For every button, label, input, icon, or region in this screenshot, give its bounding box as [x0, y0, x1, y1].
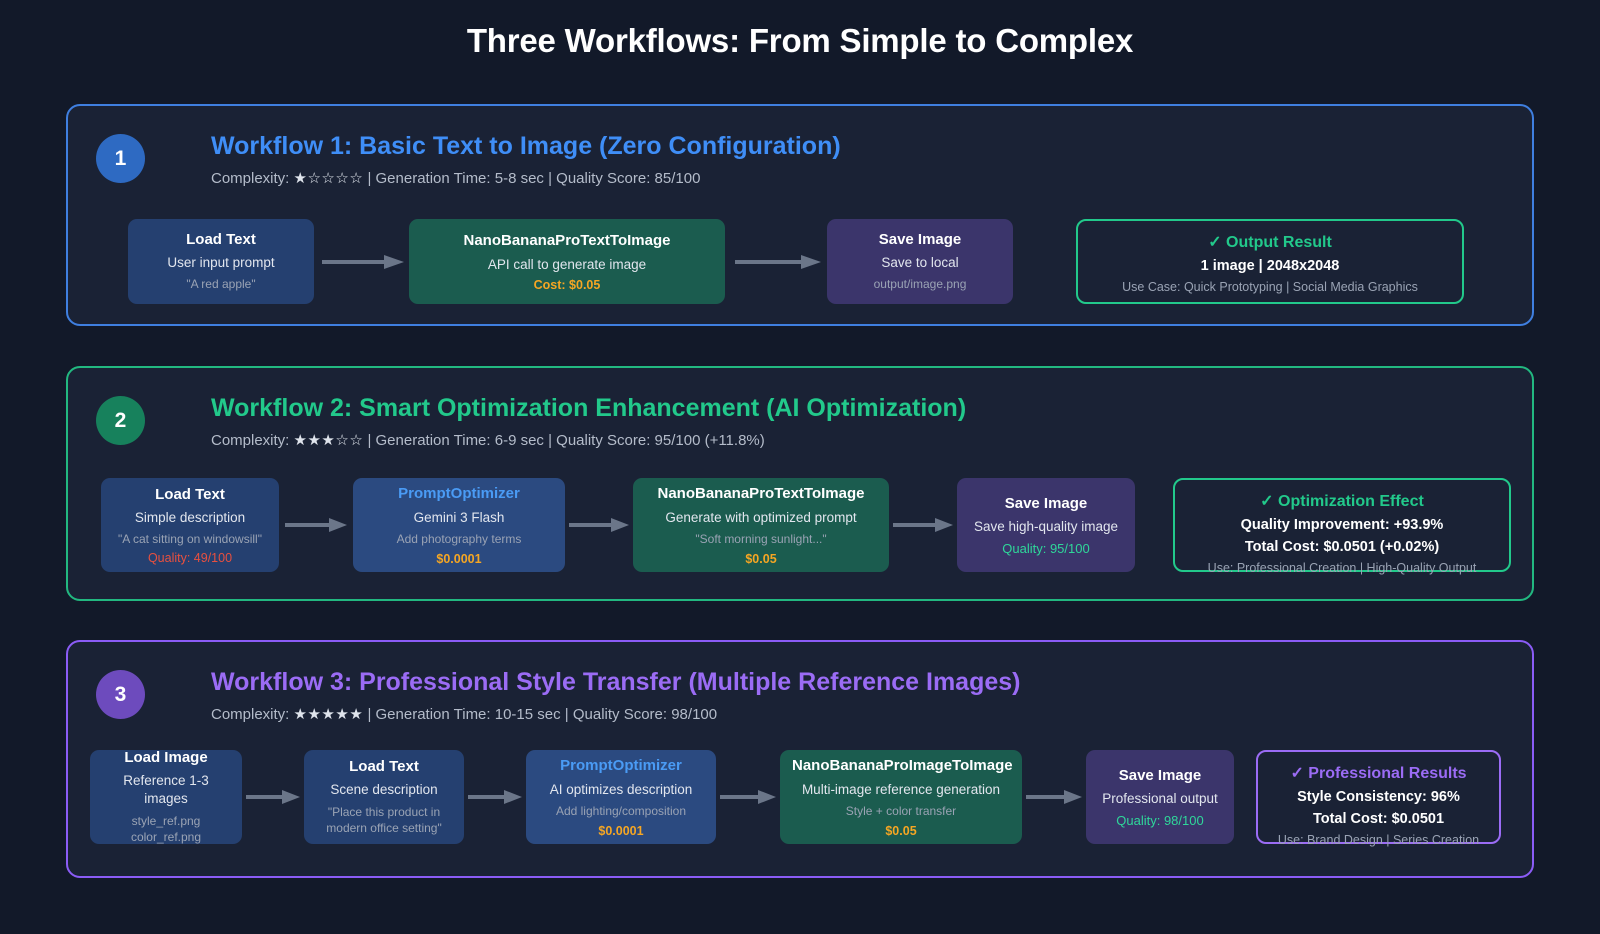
- workflow-header-3: Workflow 3: Professional Style Transfer …: [211, 668, 1021, 723]
- result-title: ✓ Optimization Effect: [1191, 491, 1493, 511]
- node-quality: Quality: 98/100: [1098, 813, 1222, 828]
- node-subtitle: Save high-quality image: [969, 518, 1123, 536]
- workflow-title-2: Workflow 2: Smart Optimization Enhanceme…: [211, 394, 966, 423]
- node-detail: "A cat sitting on windowsill": [113, 531, 267, 548]
- result-line: Quality Improvement: +93.9%: [1191, 517, 1493, 533]
- node-detail: style_ref.png color_ref.png: [102, 813, 230, 847]
- workflow-flow-1: Load Text User input prompt "A red apple…: [128, 219, 1464, 304]
- node-title: Save Image: [969, 494, 1123, 514]
- result-title: ✓ Output Result: [1094, 232, 1446, 252]
- node-subtitle: AI optimizes description: [538, 781, 704, 799]
- workflow-meta-1: Complexity: ★☆☆☆☆ | Generation Time: 5-8…: [211, 169, 841, 187]
- workflow-badge-1: 1: [96, 134, 145, 183]
- workflow-section-1: 1 Workflow 1: Basic Text to Image (Zero …: [66, 104, 1534, 326]
- workflow-meta-suffix-2: | Generation Time: 6-9 sec | Quality Sco…: [363, 432, 764, 449]
- result-use-case: Use Case: Quick Prototyping | Social Med…: [1094, 280, 1446, 294]
- workflow-header-2: Workflow 2: Smart Optimization Enhanceme…: [211, 394, 966, 449]
- node-title: Load Text: [113, 485, 267, 505]
- result-line: 1 image | 2048x2048: [1094, 258, 1446, 274]
- node-detail: Add lighting/composition: [538, 803, 704, 820]
- node-subtitle: Multi-image reference generation: [792, 781, 1010, 799]
- node-title: Save Image: [839, 230, 1001, 250]
- node-title: Load Image: [102, 748, 230, 768]
- node-cost: $0.05: [792, 824, 1010, 838]
- node-save-image[interactable]: Save Image Save to local output/image.pn…: [827, 219, 1013, 304]
- node-subtitle: Save to local: [839, 254, 1001, 272]
- node-load-image[interactable]: Load Image Reference 1-3 images style_re…: [90, 750, 242, 844]
- node-title: Load Text: [140, 230, 302, 250]
- node-title: NanoBananaProTextToImage: [645, 484, 877, 504]
- node-subtitle: Scene description: [316, 781, 452, 799]
- complexity-stars-2: ★★★☆☆: [294, 432, 364, 449]
- node-save-image[interactable]: Save Image Professional output Quality: …: [1086, 750, 1234, 844]
- result-line: Style Consistency: 96%: [1274, 789, 1483, 805]
- result-use-case: Use: Brand Design | Series Creation: [1274, 833, 1483, 847]
- result-card-professional: ✓ Professional Results Style Consistency…: [1256, 750, 1501, 844]
- complexity-stars-3: ★★★★★: [294, 706, 364, 723]
- node-title: PromptOptimizer: [365, 484, 553, 504]
- workflow-title-3: Workflow 3: Professional Style Transfer …: [211, 668, 1021, 697]
- node-nanobanana-imagetoimage[interactable]: NanoBananaProImageToImage Multi-image re…: [780, 750, 1022, 844]
- workflow-flow-3: Load Image Reference 1-3 images style_re…: [90, 750, 1501, 844]
- node-quality: Quality: 95/100: [969, 541, 1123, 556]
- workflow-section-2: 2 Workflow 2: Smart Optimization Enhance…: [66, 366, 1534, 601]
- workflow-meta-suffix-3: | Generation Time: 10-15 sec | Quality S…: [363, 706, 717, 723]
- node-title: Load Text: [316, 757, 452, 777]
- node-subtitle: Gemini 3 Flash: [365, 509, 553, 527]
- node-quality: Quality: 49/100: [113, 551, 267, 565]
- complexity-label-3: Complexity:: [211, 706, 294, 723]
- node-title: NanoBananaProTextToImage: [421, 231, 713, 251]
- node-subtitle: User input prompt: [140, 254, 302, 272]
- complexity-stars-1: ★☆☆☆☆: [294, 170, 364, 187]
- flow-arrow-icon: [716, 796, 780, 798]
- node-title: PromptOptimizer: [538, 756, 704, 776]
- workflow-header-1: Workflow 1: Basic Text to Image (Zero Co…: [211, 132, 841, 187]
- node-nanobanana-texttoimage[interactable]: NanoBananaProTextToImage API call to gen…: [409, 219, 725, 304]
- node-detail: output/image.png: [839, 276, 1001, 293]
- node-subtitle: API call to generate image: [421, 256, 713, 274]
- node-cost: $0.05: [645, 552, 877, 566]
- workflow-meta-3: Complexity: ★★★★★ | Generation Time: 10-…: [211, 705, 1021, 723]
- node-cost: $0.0001: [538, 824, 704, 838]
- node-detail: "A red apple": [140, 276, 302, 293]
- result-line: Total Cost: $0.0501 (+0.02%): [1191, 539, 1493, 555]
- node-subtitle: Reference 1-3 images: [102, 772, 230, 808]
- node-subtitle: Professional output: [1098, 790, 1222, 808]
- node-nanobanana-texttoimage[interactable]: NanoBananaProTextToImage Generate with o…: [633, 478, 889, 572]
- flow-arrow-icon: [565, 524, 633, 526]
- result-use-case: Use: Professional Creation | High-Qualit…: [1191, 561, 1493, 575]
- flow-arrow-icon: [889, 524, 957, 526]
- flow-arrow-icon: [314, 261, 409, 263]
- node-prompt-optimizer[interactable]: PromptOptimizer Gemini 3 Flash Add photo…: [353, 478, 565, 572]
- workflow-diagram-page: Three Workflows: From Simple to Complex …: [0, 0, 1600, 934]
- node-subtitle: Generate with optimized prompt: [645, 509, 877, 527]
- result-card-optimization: ✓ Optimization Effect Quality Improvemen…: [1173, 478, 1511, 572]
- node-prompt-optimizer[interactable]: PromptOptimizer AI optimizes description…: [526, 750, 716, 844]
- node-detail: Add photography terms: [365, 531, 553, 548]
- flow-arrow-icon: [464, 796, 526, 798]
- workflow-flow-2: Load Text Simple description "A cat sitt…: [101, 478, 1511, 572]
- workflow-title-1: Workflow 1: Basic Text to Image (Zero Co…: [211, 132, 841, 161]
- node-cost: Cost: $0.05: [421, 278, 713, 292]
- node-title: Save Image: [1098, 766, 1222, 786]
- node-detail: "Soft morning sunlight...": [645, 531, 877, 548]
- node-detail: Style + color transfer: [792, 803, 1010, 820]
- flow-arrow-icon: [1022, 796, 1086, 798]
- flow-arrow-icon: [242, 796, 304, 798]
- workflow-section-3: 3 Workflow 3: Professional Style Transfe…: [66, 640, 1534, 878]
- node-title: NanoBananaProImageToImage: [792, 756, 1010, 776]
- flow-arrow-icon: [725, 261, 827, 263]
- page-title: Three Workflows: From Simple to Complex: [0, 0, 1600, 60]
- complexity-label-2: Complexity:: [211, 432, 294, 449]
- result-card-output: ✓ Output Result 1 image | 2048x2048 Use …: [1076, 219, 1464, 304]
- node-cost: $0.0001: [365, 552, 553, 566]
- workflow-meta-2: Complexity: ★★★☆☆ | Generation Time: 6-9…: [211, 431, 966, 449]
- node-load-text[interactable]: Load Text Simple description "A cat sitt…: [101, 478, 279, 572]
- node-load-text[interactable]: Load Text Scene description "Place this …: [304, 750, 464, 844]
- node-save-image[interactable]: Save Image Save high-quality image Quali…: [957, 478, 1135, 572]
- workflow-badge-2: 2: [96, 396, 145, 445]
- complexity-label-1: Complexity:: [211, 170, 294, 187]
- result-title: ✓ Professional Results: [1274, 763, 1483, 783]
- node-subtitle: Simple description: [113, 509, 267, 527]
- node-load-text[interactable]: Load Text User input prompt "A red apple…: [128, 219, 314, 304]
- result-line: Total Cost: $0.0501: [1274, 811, 1483, 827]
- workflow-meta-suffix-1: | Generation Time: 5-8 sec | Quality Sco…: [363, 170, 700, 187]
- workflow-badge-3: 3: [96, 670, 145, 719]
- flow-arrow-icon: [279, 524, 353, 526]
- node-detail: "Place this product in modern office set…: [316, 804, 452, 838]
